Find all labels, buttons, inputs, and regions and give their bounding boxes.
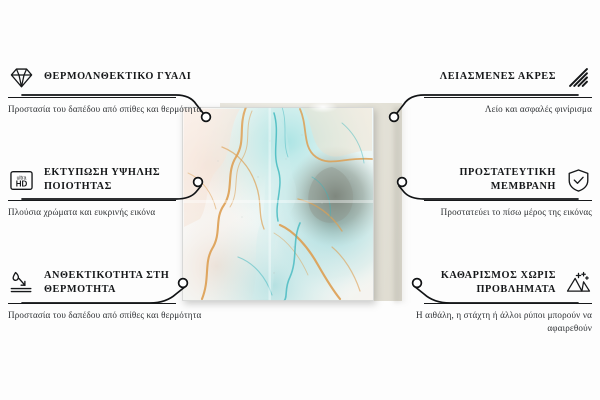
feature-title: ΛΕΙΑΣΜΕΝΕΣ ΑΚΡΕΣ <box>397 70 556 84</box>
feature-block-easy-cleaning[interactable]: ΚΑΘΑΡΙΣΜΟΣ ΧΩΡΙΣ ΠΡΟΒΛΗΜΑΤΑ Η αιθάλη, η … <box>397 266 592 335</box>
feature-description: Η αιθάλη, η στάχτη ή άλλοι ρύποι μπορούν… <box>397 309 592 335</box>
feature-title: ΑΝΘΕΚΤΙΚΟΤΗΤΑ ΣΤΗ ΘΕΡΜΟΤΗΤΑ <box>44 269 203 297</box>
infographic-canvas: ΘΕΡΜΟΛΝΘΕΚΤΙΚΟ ΓΥΑΛΙ Προστασία του δαπέδ… <box>0 0 600 400</box>
feature-divider <box>8 200 176 201</box>
feature-header: ΠΡΟΣΤΑΤΕΥΤΙΚΗ ΜΕΜΒΡΑΝΗ <box>397 163 592 197</box>
feature-block-protective-membrane[interactable]: ΠΡΟΣΤΑΤΕΥΤΙΚΗ ΜΕΜΒΡΑΝΗ Προστατεύει το πί… <box>397 163 592 219</box>
feature-description: Λείο και ασφαλές φινίρισμα <box>397 103 592 116</box>
feature-title: ΚΑΘΑΡΙΣΜΟΣ ΧΩΡΙΣ ΠΡΟΒΛΗΜΑΤΑ <box>397 269 556 297</box>
feature-title: ΠΡΟΣΤΑΤΕΥΤΙΚΗ ΜΕΜΒΡΑΝΗ <box>397 166 556 194</box>
feature-block-high-quality-print[interactable]: ultra HD ΕΚΤΥΠΩΣΗ ΥΨΗΛΗΣ ΠΟΙΟΤΗΤΑΣ Πλούσ… <box>8 163 203 219</box>
feature-description: Προστασία του δαπέδου από σπίθες και θερ… <box>8 309 203 322</box>
feature-divider <box>8 97 176 98</box>
printed-glass-panel <box>182 107 374 301</box>
feature-block-polished-edges[interactable]: ΛΕΙΑΣΜΕΝΕΣ ΑΚΡΕΣ Λείο και ασφαλές φινίρι… <box>397 60 592 116</box>
product-image <box>180 105 402 305</box>
feature-divider <box>424 200 592 201</box>
feature-block-heat-durability[interactable]: ΑΝΘΕΚΤΙΚΟΤΗΤΑ ΣΤΗ ΘΕΡΜΟΤΗΤΑ Προστασία το… <box>8 266 203 322</box>
feature-header: ΛΕΙΑΣΜΕΝΕΣ ΑΚΡΕΣ <box>397 60 592 94</box>
feature-title: ΕΚΤΥΠΩΣΗ ΥΨΗΛΗΣ ΠΟΙΟΤΗΤΑΣ <box>44 166 203 194</box>
feature-header: ΘΕΡΜΟΛΝΘΕΚΤΙΚΟ ΓΥΑΛΙ <box>8 60 203 94</box>
polished-edges-icon <box>565 64 592 91</box>
feature-header: ΚΑΘΑΡΙΣΜΟΣ ΧΩΡΙΣ ΠΡΟΒΛΗΜΑΤΑ <box>397 266 592 300</box>
diamond-icon <box>8 64 35 91</box>
feature-description: Πλούσια χρώματα και ευκρινής εικόνα <box>8 206 203 219</box>
feature-description: Προστασία του δαπέδου από σπίθες και θερ… <box>8 103 203 116</box>
feature-divider <box>8 303 176 304</box>
feature-title: ΘΕΡΜΟΛΝΘΕΚΤΙΚΟ ΓΥΑΛΙ <box>44 70 203 84</box>
feature-divider <box>424 303 592 304</box>
feature-block-heat-resistant-glass[interactable]: ΘΕΡΜΟΛΝΘΕΚΤΙΚΟ ΓΥΑΛΙ Προστασία του δαπέδ… <box>8 60 203 116</box>
flame-heat-resistance-icon <box>8 270 35 297</box>
glass-highlight-glint <box>308 101 338 113</box>
sparkle-clean-icon <box>565 270 592 297</box>
feature-divider <box>424 97 592 98</box>
feature-header: ultra HD ΕΚΤΥΠΩΣΗ ΥΨΗΛΗΣ ΠΟΙΟΤΗΤΑΣ <box>8 163 203 197</box>
svg-text:HD: HD <box>16 179 28 188</box>
shield-check-icon <box>565 167 592 194</box>
feature-description: Προστατεύει το πίσω μέρος της εικόνας <box>397 206 592 219</box>
feature-header: ΑΝΘΕΚΤΙΚΟΤΗΤΑ ΣΤΗ ΘΕΡΜΟΤΗΤΑ <box>8 266 203 300</box>
ultra-hd-badge-icon: ultra HD <box>8 167 35 194</box>
marble-artwork <box>182 107 374 301</box>
